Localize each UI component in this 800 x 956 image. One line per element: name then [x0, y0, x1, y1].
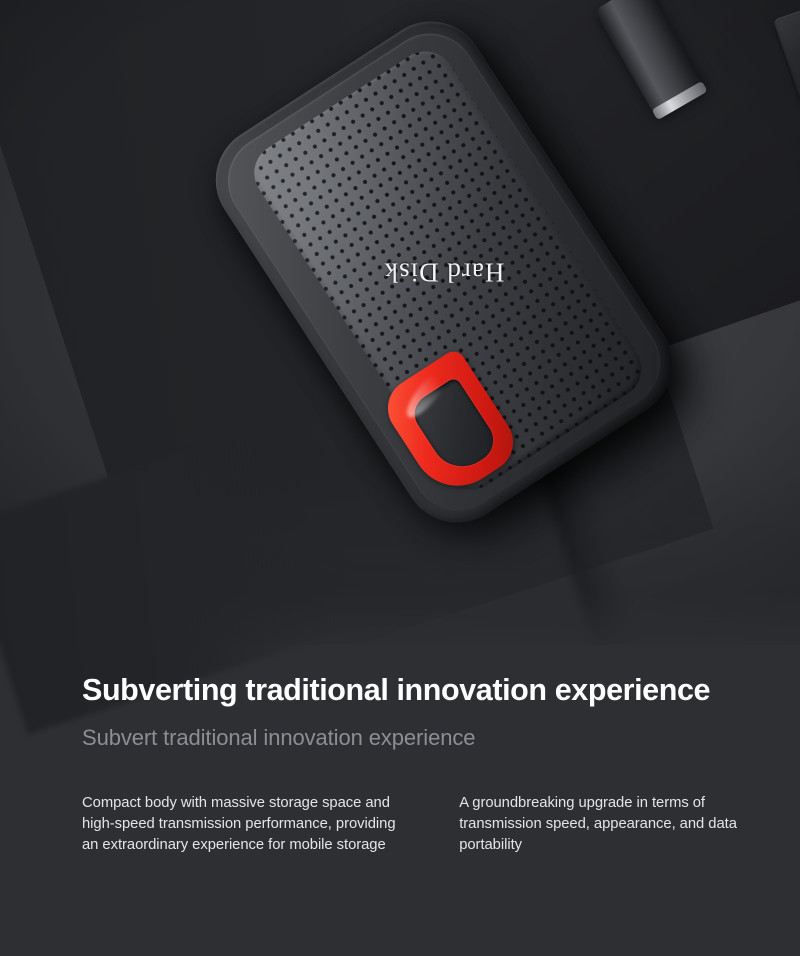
product-banner: Esc F1 F2	[0, 0, 800, 956]
feature-text-right: A groundbreaking upgrade in terms of tra…	[459, 793, 742, 856]
drive-brand-label: Hard Disk	[384, 257, 505, 288]
page-headline: Subverting traditional innovation experi…	[82, 673, 710, 708]
feature-columns: Compact body with massive storage space …	[82, 793, 742, 856]
feature-column-right: A groundbreaking upgrade in terms of tra…	[459, 793, 742, 856]
feature-column-left: Compact body with massive storage space …	[82, 793, 407, 856]
hero-product-photo: Esc F1 F2	[0, 0, 800, 660]
feature-text-left: Compact body with massive storage space …	[82, 793, 407, 856]
page-subheadline: Subvert traditional innovation experienc…	[82, 725, 475, 751]
copy-section: Subverting traditional innovation experi…	[0, 645, 800, 956]
